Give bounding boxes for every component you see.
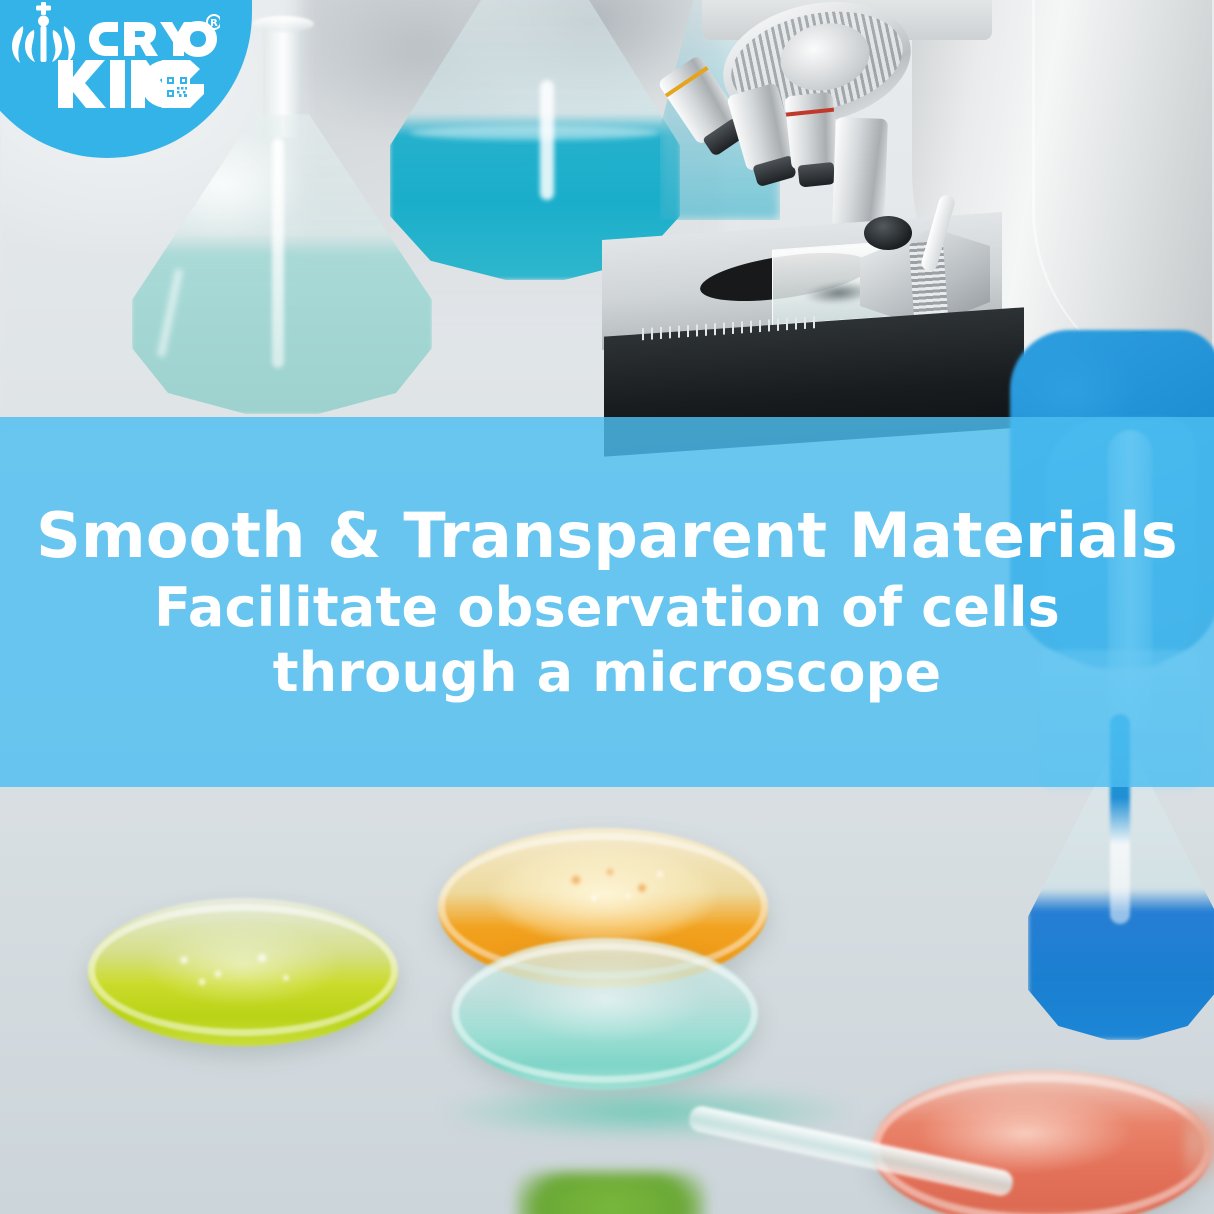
svg-text:R: R bbox=[210, 18, 218, 29]
condenser-knob bbox=[864, 216, 912, 250]
background-green-blur bbox=[516, 1172, 706, 1214]
dish-wall bbox=[452, 943, 758, 1083]
colonies bbox=[166, 950, 316, 992]
petri-dish-teal bbox=[452, 938, 758, 1090]
dish-wall bbox=[872, 1074, 1212, 1214]
flask-glare bbox=[540, 80, 554, 200]
petri-dish-pink bbox=[872, 1070, 1212, 1214]
crown-scepter-icon bbox=[12, 2, 75, 63]
headline-line-3: through a microscope bbox=[273, 644, 942, 701]
objective-lens-long bbox=[832, 117, 888, 229]
background-pink-blur bbox=[1184, 1096, 1214, 1186]
product-marketing-image: Smooth & Transparent Materials Facilitat… bbox=[0, 0, 1214, 1214]
colonies bbox=[556, 866, 686, 910]
headline-line-1: Smooth & Transparent Materials bbox=[36, 503, 1178, 569]
flask-blue bbox=[1028, 760, 1214, 1050]
registered-trademark-icon: R bbox=[207, 15, 220, 29]
flask-glare bbox=[272, 138, 284, 368]
headline-line-2: Facilitate observation of cells bbox=[154, 579, 1060, 636]
headline-banner: Smooth & Transparent Materials Facilitat… bbox=[0, 417, 1214, 787]
brand-logo-svg: R bbox=[0, 0, 220, 112]
qr-code-icon bbox=[164, 74, 190, 100]
objective-lens-red bbox=[784, 92, 839, 171]
petri-dish-yellow-green bbox=[88, 898, 398, 1046]
brand-logo-mark: R bbox=[0, 0, 220, 112]
flask-rim bbox=[252, 16, 314, 32]
wordmark-cryo bbox=[89, 21, 217, 57]
